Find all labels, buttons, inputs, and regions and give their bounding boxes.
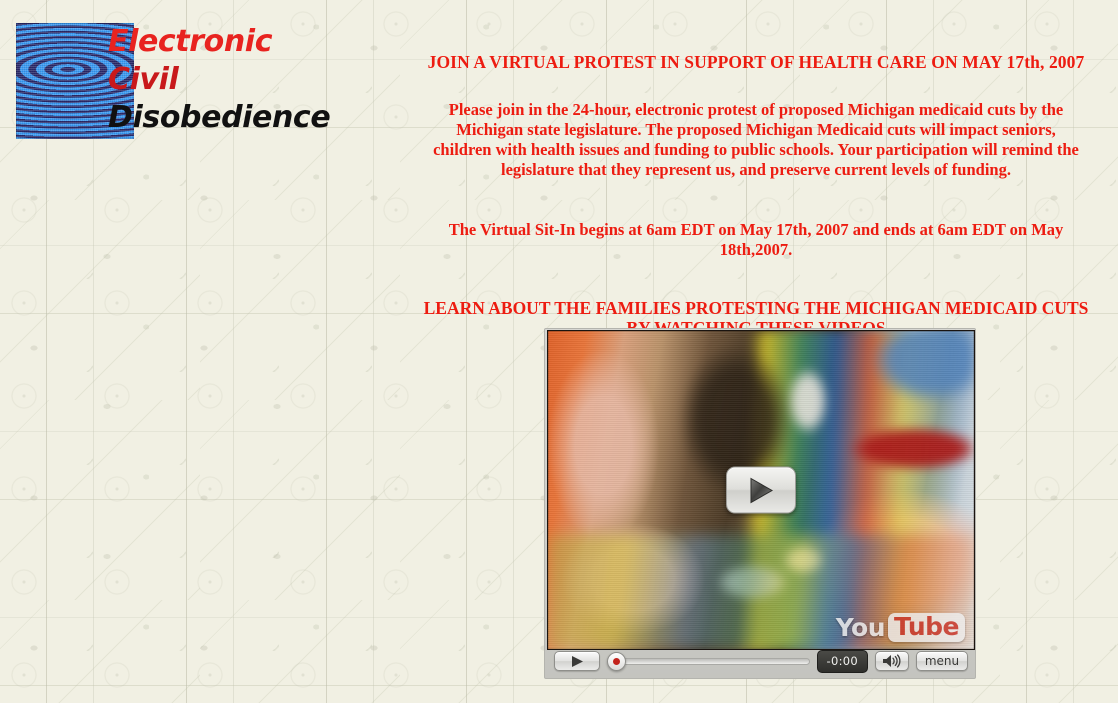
intro-paragraph: Please join in the 24-hour, electronic p… [427, 100, 1085, 180]
play-icon[interactable] [554, 651, 600, 671]
speaker-icon[interactable] [875, 651, 909, 671]
scrubber-track[interactable] [619, 658, 810, 665]
player-control-bar[interactable]: -0:00 menu [547, 649, 975, 673]
youtube-watermark-you: You [836, 615, 888, 640]
play-triangle-icon[interactable] [726, 467, 796, 514]
schedule-paragraph: The Virtual Sit-In begins at 6am EDT on … [427, 220, 1085, 260]
menu-button[interactable]: menu [916, 651, 968, 671]
site-logo[interactable]: Electronic Civil Disobedience [16, 23, 396, 143]
main-content: JOIN A VIRTUAL PROTEST IN SUPPORT OF HEA… [394, 50, 1118, 338]
logo-line-disobedience: Disobedience [108, 99, 330, 137]
time-remaining-display: -0:00 [817, 650, 868, 673]
video-player[interactable]: You Tube -0:00 menu [544, 328, 976, 679]
logo-wordmark: Electronic Civil Disobedience [108, 23, 330, 137]
logo-line-civil: Civil [108, 61, 330, 99]
scrubber[interactable] [607, 651, 810, 671]
video-viewport[interactable]: You Tube [547, 330, 975, 650]
youtube-watermark-tube: Tube [888, 613, 965, 642]
page-headline: JOIN A VIRTUAL PROTEST IN SUPPORT OF HEA… [394, 50, 1118, 74]
scrubber-thumb[interactable] [607, 652, 626, 671]
logo-line-electronic: Electronic [108, 23, 330, 61]
youtube-watermark[interactable]: You Tube [836, 613, 965, 642]
